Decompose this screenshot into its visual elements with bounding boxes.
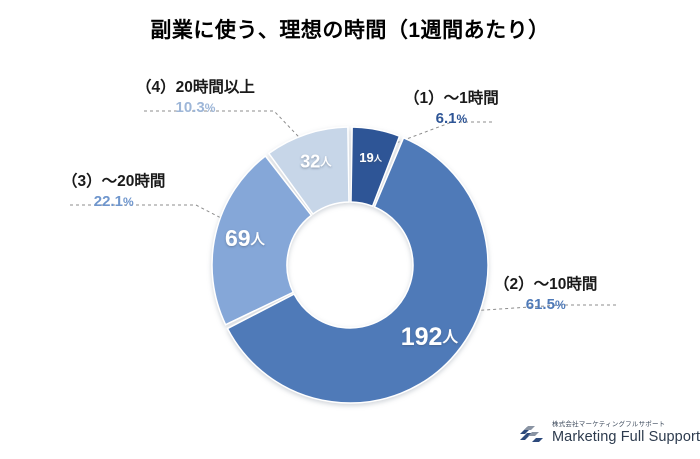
percent-symbol-2: % <box>555 298 566 312</box>
callout-percent-3: 22.1% <box>62 193 165 212</box>
callout-label-1: （1）～1時間 6.1% <box>404 89 499 129</box>
callout-label-4: （4）20時間以上 10.3% <box>136 78 255 118</box>
chart-container: 副業に使う、理想の時間（1週間あたり） 19人192人69人32人 （1）～1時… <box>0 0 700 459</box>
callout-category-2: （2）～10時間 <box>494 275 597 294</box>
logo-company-en: Marketing Full Support <box>552 430 700 445</box>
callout-label-3: （3）～20時間 22.1% <box>62 172 165 212</box>
percent-symbol-3: % <box>123 195 134 209</box>
callout-percent-1: 6.1% <box>404 110 499 129</box>
company-logo: 株式会社マーケティングフルサポート Marketing Full Support <box>519 421 700 445</box>
logo-company-jp: 株式会社マーケティングフルサポート <box>552 422 700 429</box>
callout-category-1: （1）～1時間 <box>404 89 499 108</box>
callout-label-2: （2）～10時間 61.5% <box>494 275 597 315</box>
callout-category-3: （3）～20時間 <box>62 172 165 191</box>
logo-text: 株式会社マーケティングフルサポート Marketing Full Support <box>552 422 700 445</box>
logo-mark-icon <box>519 421 545 445</box>
donut-slices <box>212 127 488 403</box>
percent-symbol-4: % <box>205 101 216 115</box>
callout-category-4: （4）20時間以上 <box>136 78 255 97</box>
percent-symbol-1: % <box>456 112 467 126</box>
donut-chart-svg: 19人192人69人32人 <box>0 0 700 459</box>
callout-percent-4: 10.3% <box>136 99 255 118</box>
callout-percent-2: 61.5% <box>494 296 597 315</box>
